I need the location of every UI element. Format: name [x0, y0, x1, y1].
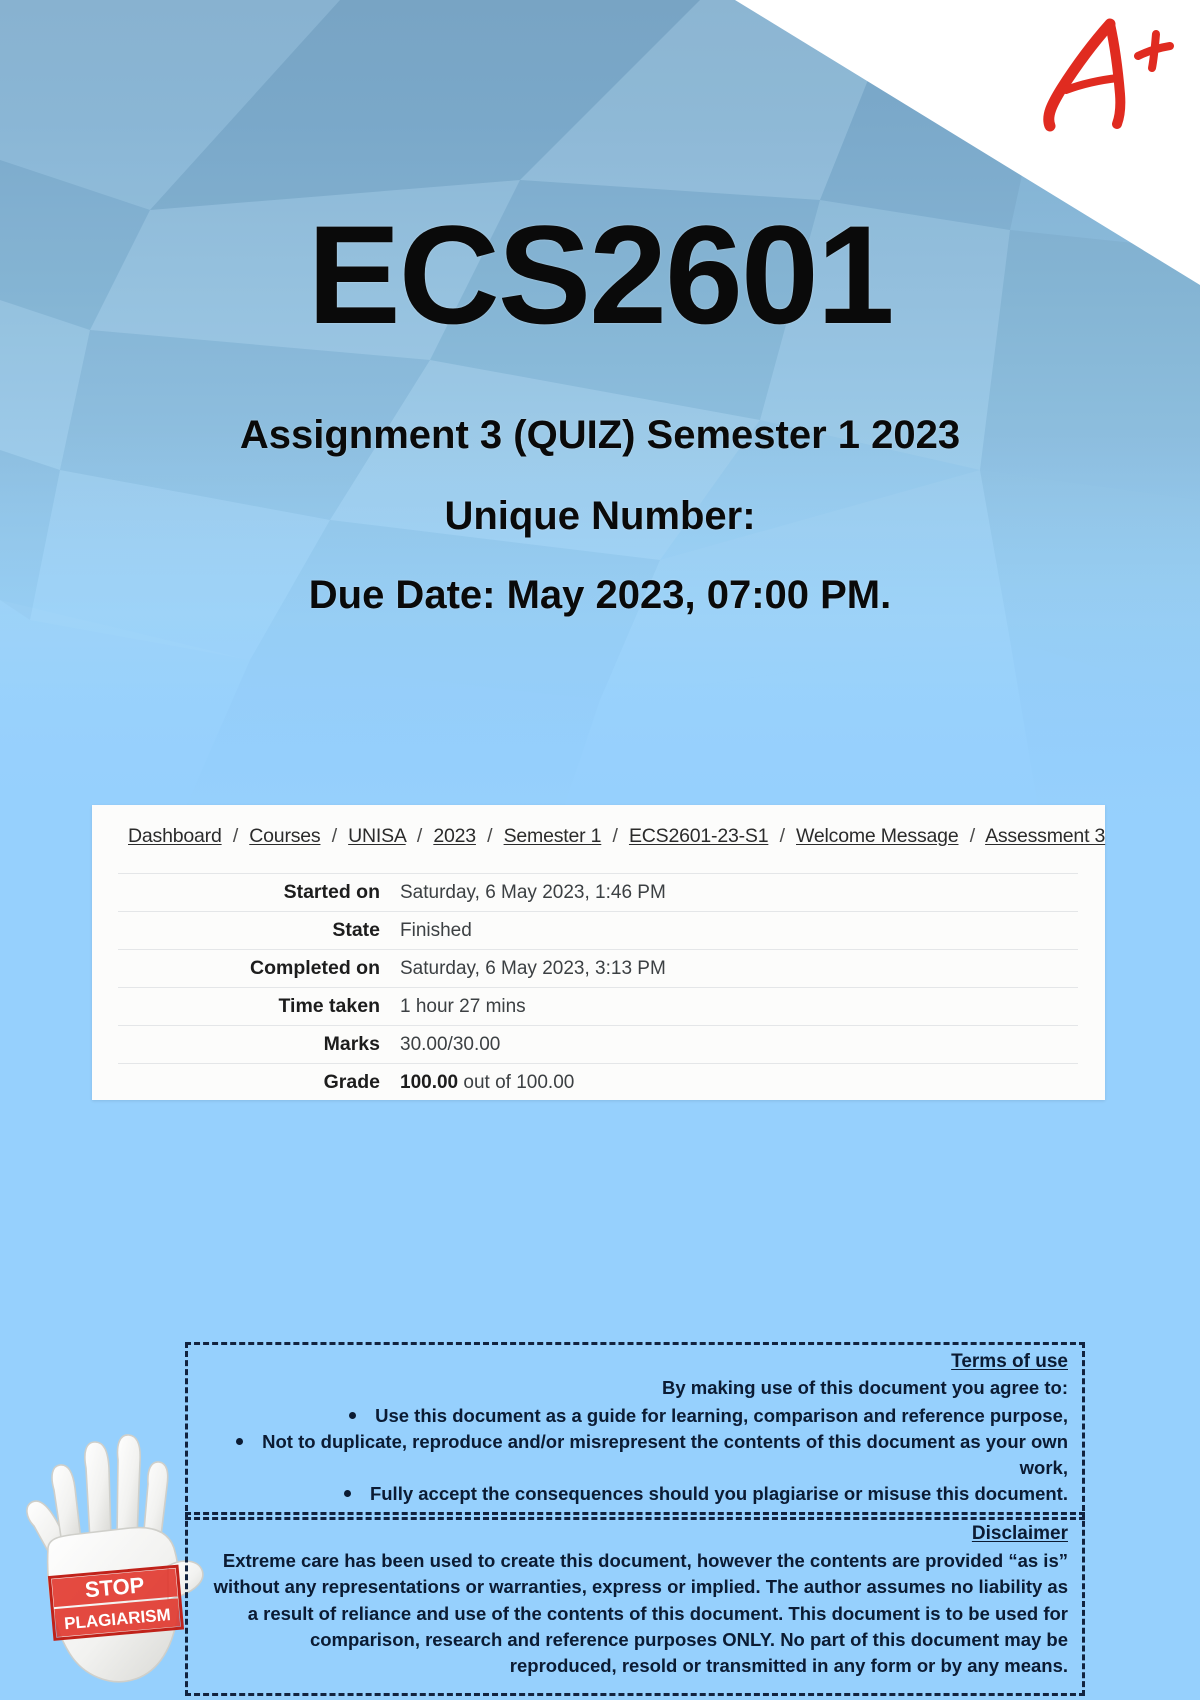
row-label-grade: Grade	[118, 1064, 392, 1102]
row-value-state: Finished	[392, 912, 1078, 950]
table-row: Time taken 1 hour 27 mins	[118, 988, 1078, 1026]
moodle-attempt-card: Dashboard / Courses / UNISA / 2023 / Sem…	[92, 805, 1105, 1100]
breadcrumb-item-courses[interactable]: Courses	[249, 825, 320, 847]
row-value-marks: 30.00/30.00	[392, 1026, 1078, 1064]
breadcrumb-separator: /	[607, 825, 624, 847]
unique-number-label: Unique Number:	[0, 458, 1200, 539]
breadcrumb-item-course[interactable]: ECS2601-23-S1	[629, 825, 768, 847]
breadcrumb-separator: /	[774, 825, 791, 847]
stamp-text-stop: STOP	[84, 1572, 145, 1602]
stop-plagiarism-hand-image: STOP PLAGIARISM	[18, 1398, 208, 1698]
table-row: Completed on Saturday, 6 May 2023, 3:13 …	[118, 950, 1078, 988]
assignment-cover-page: ECS2601 Assignment 3 (QUIZ) Semester 1 2…	[0, 0, 1200, 1700]
breadcrumb-item-unisa[interactable]: UNISA	[348, 825, 406, 847]
disclaimer-text: Extreme care has been used to create thi…	[202, 1548, 1068, 1679]
terms-item-text: Not to duplicate, reproduce and/or misre…	[262, 1431, 1068, 1478]
row-label-completed-on: Completed on	[118, 950, 392, 988]
grade-suffix: out of 100.00	[463, 1072, 574, 1093]
row-value-grade: 100.00 out of 100.00	[392, 1064, 1078, 1102]
breadcrumb-separator: /	[326, 825, 343, 847]
row-value-started-on: Saturday, 6 May 2023, 1:46 PM	[392, 874, 1078, 912]
table-row: Grade 100.00 out of 100.00	[118, 1064, 1078, 1102]
breadcrumb-item-semester-1[interactable]: Semester 1	[504, 825, 602, 847]
course-code-title: ECS2601	[0, 205, 1200, 345]
disclaimer-box: Disclaimer Extreme care has been used to…	[185, 1512, 1085, 1696]
terms-of-use-box: Terms of use By making use of this docum…	[185, 1342, 1085, 1520]
breadcrumb-item-welcome-message[interactable]: Welcome Message	[796, 825, 958, 847]
breadcrumb-separator: /	[227, 825, 244, 847]
terms-of-use-lead: By making use of this document you agree…	[202, 1376, 1068, 1401]
assignment-subtitle: Assignment 3 (QUIZ) Semester 1 2023	[0, 345, 1200, 458]
list-item: Use this document as a guide for learnin…	[202, 1403, 1068, 1429]
bullet-icon	[349, 1412, 356, 1419]
terms-item-text: Fully accept the consequences should you…	[370, 1483, 1068, 1504]
table-row: Marks 30.00/30.00	[118, 1026, 1078, 1064]
breadcrumb-item-2023[interactable]: 2023	[433, 825, 476, 847]
due-date-label: Due Date: May 2023, 07:00 PM.	[0, 539, 1200, 618]
row-label-started-on: Started on	[118, 874, 392, 912]
bullet-icon	[344, 1490, 351, 1497]
breadcrumb-item-assessment-3[interactable]: Assessment 3	[985, 825, 1105, 847]
bullet-icon	[236, 1438, 243, 1445]
grade-score: 100.00	[400, 1072, 458, 1093]
list-item: Fully accept the consequences should you…	[202, 1481, 1068, 1507]
breadcrumb-separator: /	[964, 825, 981, 847]
table-row: State Finished	[118, 912, 1078, 950]
title-block: ECS2601 Assignment 3 (QUIZ) Semester 1 2…	[0, 205, 1200, 618]
breadcrumb-item-dashboard[interactable]: Dashboard	[128, 825, 222, 847]
attempt-summary-table: Started on Saturday, 6 May 2023, 1:46 PM…	[118, 873, 1078, 1101]
row-label-state: State	[118, 912, 392, 950]
terms-item-text: Use this document as a guide for learnin…	[375, 1405, 1068, 1426]
row-value-completed-on: Saturday, 6 May 2023, 3:13 PM	[392, 950, 1078, 988]
disclaimer-heading: Disclaimer	[202, 1523, 1068, 1545]
table-row: Started on Saturday, 6 May 2023, 1:46 PM	[118, 874, 1078, 912]
a-plus-logo-icon	[1032, 8, 1182, 138]
list-item: Not to duplicate, reproduce and/or misre…	[202, 1429, 1068, 1481]
breadcrumb-separator: /	[481, 825, 498, 847]
row-label-time-taken: Time taken	[118, 988, 392, 1026]
terms-of-use-list: Use this document as a guide for learnin…	[202, 1403, 1068, 1507]
row-value-time-taken: 1 hour 27 mins	[392, 988, 1078, 1026]
breadcrumb: Dashboard / Courses / UNISA / 2023 / Sem…	[128, 825, 1095, 848]
row-label-marks: Marks	[118, 1026, 392, 1064]
breadcrumb-separator: /	[411, 825, 428, 847]
terms-of-use-heading: Terms of use	[202, 1351, 1068, 1373]
